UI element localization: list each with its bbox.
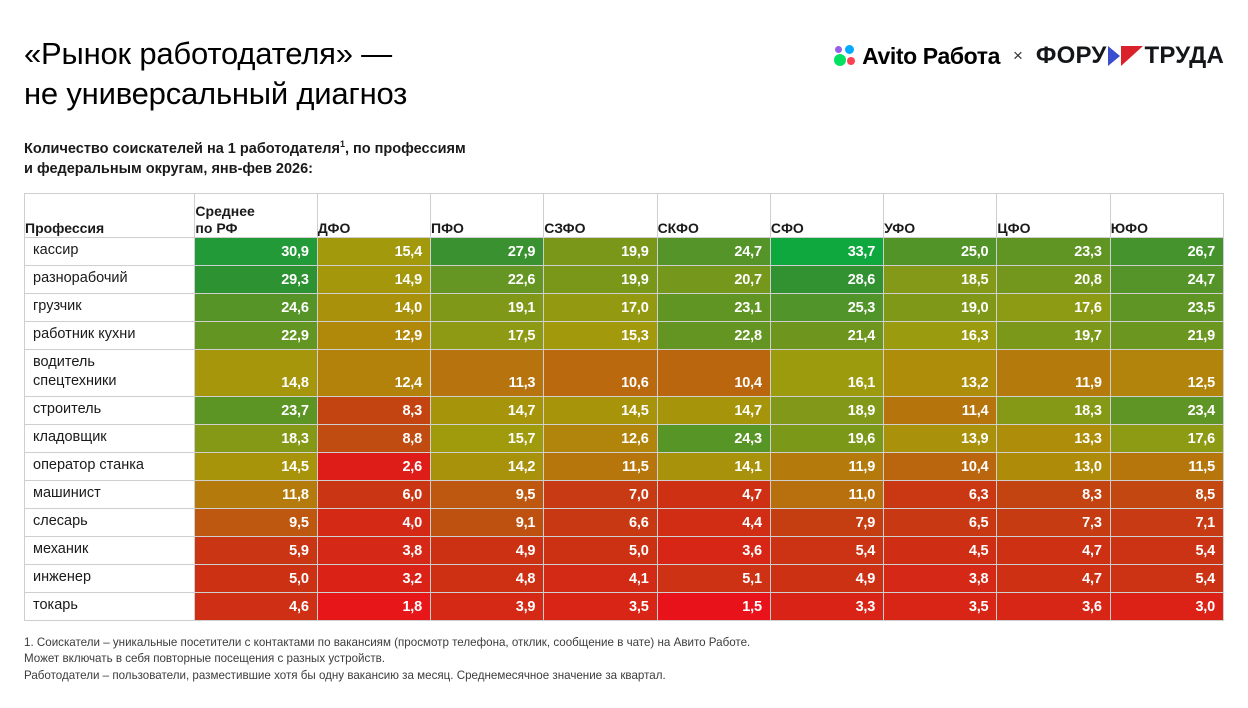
heatmap-cell: 8,3 <box>317 396 430 424</box>
row-label-profession: работник кухни <box>25 321 195 349</box>
heatmap-cell: 4,4 <box>657 508 770 536</box>
heatmap-cell: 11,9 <box>997 349 1110 396</box>
table-row: грузчик24,614,019,117,023,125,319,017,62… <box>25 293 1224 321</box>
heatmap-cell: 11,5 <box>1110 452 1223 480</box>
heatmap-cell: 6,5 <box>884 508 997 536</box>
heatmap-cell: 4,9 <box>431 536 544 564</box>
column-header-cfo: ЦФО <box>997 193 1110 237</box>
forum-logo-text-2: ТРУДА <box>1145 42 1225 70</box>
avito-logo-text: Avito Работа <box>862 43 1000 70</box>
heatmap-cell: 24,7 <box>657 237 770 265</box>
heatmap-cell: 13,2 <box>884 349 997 396</box>
heatmap-cell: 19,7 <box>997 321 1110 349</box>
heatmap-cell: 25,0 <box>884 237 997 265</box>
table-head: Профессия Среднее по РФ ДФО ПФО СЗФО СКФ… <box>25 193 1224 237</box>
heatmap-cell: 5,0 <box>195 564 317 592</box>
footnote-line-1: 1. Соискатели – уникальные посетители с … <box>24 636 750 649</box>
column-header-ufo: УФО <box>884 193 997 237</box>
heatmap-cell: 22,6 <box>431 265 544 293</box>
forum-logo-text-1: ФОРУ <box>1036 42 1107 70</box>
heatmap-cell: 4,6 <box>195 592 317 620</box>
row-label-profession: разнорабочий <box>25 265 195 293</box>
subtitle-line2: и федеральным округам, янв-фев 2026: <box>24 161 313 177</box>
table-row: кладовщик18,38,815,712,624,319,613,913,3… <box>25 424 1224 452</box>
row-label-profession: инженер <box>25 564 195 592</box>
heatmap-cell: 24,7 <box>1110 265 1223 293</box>
heatmap-cell: 3,8 <box>884 564 997 592</box>
heatmap-cell: 21,9 <box>1110 321 1223 349</box>
heatmap-cell: 20,7 <box>657 265 770 293</box>
heatmap-cell: 19,9 <box>544 237 657 265</box>
heatmap-cell: 14,9 <box>317 265 430 293</box>
footnote-line-2: Может включать в себя повторные посещени… <box>24 652 385 665</box>
heatmap-cell: 17,6 <box>997 293 1110 321</box>
heatmap-cell: 15,7 <box>431 424 544 452</box>
heatmap-cell: 14,7 <box>431 396 544 424</box>
heatmap-cell: 1,8 <box>317 592 430 620</box>
heatmap-cell: 19,6 <box>770 424 883 452</box>
table-row: механик5,93,84,95,03,65,44,54,75,4 <box>25 536 1224 564</box>
heatmap-cell: 3,0 <box>1110 592 1223 620</box>
heatmap-cell: 4,0 <box>317 508 430 536</box>
heatmap-cell: 7,1 <box>1110 508 1223 536</box>
heatmap-cell: 25,3 <box>770 293 883 321</box>
heatmap-cell: 8,5 <box>1110 480 1223 508</box>
table-row: кассир30,915,427,919,924,733,725,023,326… <box>25 237 1224 265</box>
heatmap-cell: 6,0 <box>317 480 430 508</box>
heatmap-cell: 23,1 <box>657 293 770 321</box>
row-label-profession: водитель спецтехники <box>25 349 195 396</box>
table-row: инженер5,03,24,84,15,14,93,84,75,4 <box>25 564 1224 592</box>
table-body: кассир30,915,427,919,924,733,725,023,326… <box>25 237 1224 620</box>
table-row: токарь4,61,83,93,51,53,33,53,63,0 <box>25 592 1224 620</box>
heatmap-cell: 12,4 <box>317 349 430 396</box>
column-header-szfo: СЗФО <box>544 193 657 237</box>
heatmap-cell: 3,3 <box>770 592 883 620</box>
heatmap-cell: 8,3 <box>997 480 1110 508</box>
heatmap-cell: 5,0 <box>544 536 657 564</box>
heatmap-cell: 26,7 <box>1110 237 1223 265</box>
heatmap-cell: 29,3 <box>195 265 317 293</box>
heatmap-cell: 14,2 <box>431 452 544 480</box>
heatmap-cell: 11,3 <box>431 349 544 396</box>
infographic-page: «Рынок работодателя» — не универсальный … <box>0 0 1248 708</box>
row-label-profession: слесарь <box>25 508 195 536</box>
column-header-yufo: ЮФО <box>1110 193 1223 237</box>
heatmap-cell: 16,3 <box>884 321 997 349</box>
avito-dots-icon <box>834 45 856 67</box>
table-row: машинист11,86,09,57,04,711,06,38,38,5 <box>25 480 1224 508</box>
heatmap-cell: 14,5 <box>544 396 657 424</box>
row-label-profession: механик <box>25 536 195 564</box>
table-row: водитель спецтехники14,812,411,310,610,4… <box>25 349 1224 396</box>
heatmap-cell: 24,3 <box>657 424 770 452</box>
column-header-sfo: СФО <box>770 193 883 237</box>
heatmap-cell: 5,4 <box>1110 564 1223 592</box>
chart-subtitle: Количество соискателей на 1 работодателя… <box>24 134 1224 179</box>
avito-logo: Avito Работа <box>834 43 1000 70</box>
row-label-profession: машинист <box>25 480 195 508</box>
heatmap-cell: 20,8 <box>997 265 1110 293</box>
heatmap-cell: 4,9 <box>770 564 883 592</box>
heatmap-cell: 14,0 <box>317 293 430 321</box>
heatmap-cell: 23,4 <box>1110 396 1223 424</box>
heatmap-cell: 10,4 <box>657 349 770 396</box>
heatmap-cell: 22,8 <box>657 321 770 349</box>
page-title: «Рынок работодателя» — не универсальный … <box>24 34 407 114</box>
subtitle-line1-a: Количество соискателей на 1 работодателя <box>24 141 340 157</box>
heatmap-cell: 10,4 <box>884 452 997 480</box>
heatmap-cell: 11,4 <box>884 396 997 424</box>
table-row: слесарь9,54,09,16,64,47,96,57,37,1 <box>25 508 1224 536</box>
column-header-average-rf: Среднее по РФ <box>195 193 317 237</box>
heatmap-cell: 12,9 <box>317 321 430 349</box>
row-label-profession: кладовщик <box>25 424 195 452</box>
heatmap-cell: 4,1 <box>544 564 657 592</box>
column-header-skfo: СКФО <box>657 193 770 237</box>
page-header: «Рынок работодателя» — не универсальный … <box>0 0 1248 114</box>
heatmap-cell: 15,3 <box>544 321 657 349</box>
heatmap-cell: 18,3 <box>997 396 1110 424</box>
heatmap-cell: 4,7 <box>657 480 770 508</box>
heatmap-cell: 18,9 <box>770 396 883 424</box>
heatmap-cell: 17,5 <box>431 321 544 349</box>
heatmap-cell: 24,6 <box>195 293 317 321</box>
heatmap-cell: 14,8 <box>195 349 317 396</box>
heatmap-cell: 11,5 <box>544 452 657 480</box>
forum-triangle-icon <box>1108 46 1143 66</box>
heatmap-cell: 11,0 <box>770 480 883 508</box>
heatmap-cell: 13,3 <box>997 424 1110 452</box>
heatmap-cell: 7,0 <box>544 480 657 508</box>
heatmap-table-wrap: Профессия Среднее по РФ ДФО ПФО СЗФО СКФ… <box>24 193 1224 621</box>
heatmap-cell: 13,0 <box>997 452 1110 480</box>
footnote-block: 1. Соискатели – уникальные посетители с … <box>24 635 1224 685</box>
heatmap-cell: 12,6 <box>544 424 657 452</box>
heatmap-cell: 27,9 <box>431 237 544 265</box>
row-label-profession: строитель <box>25 396 195 424</box>
row-label-profession: токарь <box>25 592 195 620</box>
heatmap-cell: 9,5 <box>195 508 317 536</box>
heatmap-cell: 14,5 <box>195 452 317 480</box>
heatmap-cell: 8,8 <box>317 424 430 452</box>
heatmap-cell: 3,6 <box>997 592 1110 620</box>
heatmap-cell: 7,9 <box>770 508 883 536</box>
heatmap-cell: 23,7 <box>195 396 317 424</box>
heatmap-cell: 33,7 <box>770 237 883 265</box>
heatmap-cell: 18,5 <box>884 265 997 293</box>
heatmap-cell: 13,9 <box>884 424 997 452</box>
heatmap-cell: 4,7 <box>997 536 1110 564</box>
heatmap-cell: 11,8 <box>195 480 317 508</box>
heatmap-cell: 6,6 <box>544 508 657 536</box>
heatmap-cell: 3,5 <box>884 592 997 620</box>
heatmap-cell: 17,6 <box>1110 424 1223 452</box>
heatmap-cell: 21,4 <box>770 321 883 349</box>
heatmap-cell: 7,3 <box>997 508 1110 536</box>
heatmap-cell: 6,3 <box>884 480 997 508</box>
footnote-line-3: Работодатели – пользователи, разместивши… <box>24 669 666 682</box>
heatmap-cell: 3,2 <box>317 564 430 592</box>
heatmap-table: Профессия Среднее по РФ ДФО ПФО СЗФО СКФ… <box>24 193 1224 621</box>
heatmap-cell: 5,4 <box>770 536 883 564</box>
heatmap-cell: 3,8 <box>317 536 430 564</box>
heatmap-cell: 14,1 <box>657 452 770 480</box>
heatmap-cell: 3,9 <box>431 592 544 620</box>
table-row: строитель23,78,314,714,514,718,911,418,3… <box>25 396 1224 424</box>
heatmap-cell: 19,1 <box>431 293 544 321</box>
heatmap-cell: 11,9 <box>770 452 883 480</box>
heatmap-cell: 17,0 <box>544 293 657 321</box>
row-label-profession: грузчик <box>25 293 195 321</box>
heatmap-cell: 23,3 <box>997 237 1110 265</box>
heatmap-cell: 5,4 <box>1110 536 1223 564</box>
heatmap-cell: 15,4 <box>317 237 430 265</box>
logo-group: Avito Работа × ФОРУ ТРУДА <box>834 42 1224 70</box>
column-header-profession: Профессия <box>25 193 195 237</box>
table-row: оператор станка14,52,614,211,514,111,910… <box>25 452 1224 480</box>
heatmap-cell: 22,9 <box>195 321 317 349</box>
heatmap-cell: 3,5 <box>544 592 657 620</box>
heatmap-cell: 4,8 <box>431 564 544 592</box>
heatmap-cell: 19,9 <box>544 265 657 293</box>
column-header-pfo: ПФО <box>431 193 544 237</box>
heatmap-cell: 4,5 <box>884 536 997 564</box>
heatmap-cell: 5,9 <box>195 536 317 564</box>
table-row: разнорабочий29,314,922,619,920,728,618,5… <box>25 265 1224 293</box>
heatmap-cell: 10,6 <box>544 349 657 396</box>
column-header-dfo: ДФО <box>317 193 430 237</box>
heatmap-cell: 2,6 <box>317 452 430 480</box>
table-row: работник кухни22,912,917,515,322,821,416… <box>25 321 1224 349</box>
row-label-profession: кассир <box>25 237 195 265</box>
heatmap-cell: 4,7 <box>997 564 1110 592</box>
heatmap-cell: 23,5 <box>1110 293 1223 321</box>
heatmap-cell: 28,6 <box>770 265 883 293</box>
heatmap-cell: 18,3 <box>195 424 317 452</box>
heatmap-cell: 19,0 <box>884 293 997 321</box>
heatmap-cell: 12,5 <box>1110 349 1223 396</box>
subtitle-line1-b: , по профессиям <box>345 141 466 157</box>
forum-truda-logo: ФОРУ ТРУДА <box>1036 42 1224 70</box>
heatmap-cell: 5,1 <box>657 564 770 592</box>
logo-separator-icon: × <box>1013 46 1023 66</box>
row-label-profession: оператор станка <box>25 452 195 480</box>
heatmap-cell: 9,1 <box>431 508 544 536</box>
heatmap-cell: 16,1 <box>770 349 883 396</box>
table-header-row: Профессия Среднее по РФ ДФО ПФО СЗФО СКФ… <box>25 193 1224 237</box>
heatmap-cell: 14,7 <box>657 396 770 424</box>
heatmap-cell: 9,5 <box>431 480 544 508</box>
heatmap-cell: 3,6 <box>657 536 770 564</box>
heatmap-cell: 30,9 <box>195 237 317 265</box>
heatmap-cell: 1,5 <box>657 592 770 620</box>
